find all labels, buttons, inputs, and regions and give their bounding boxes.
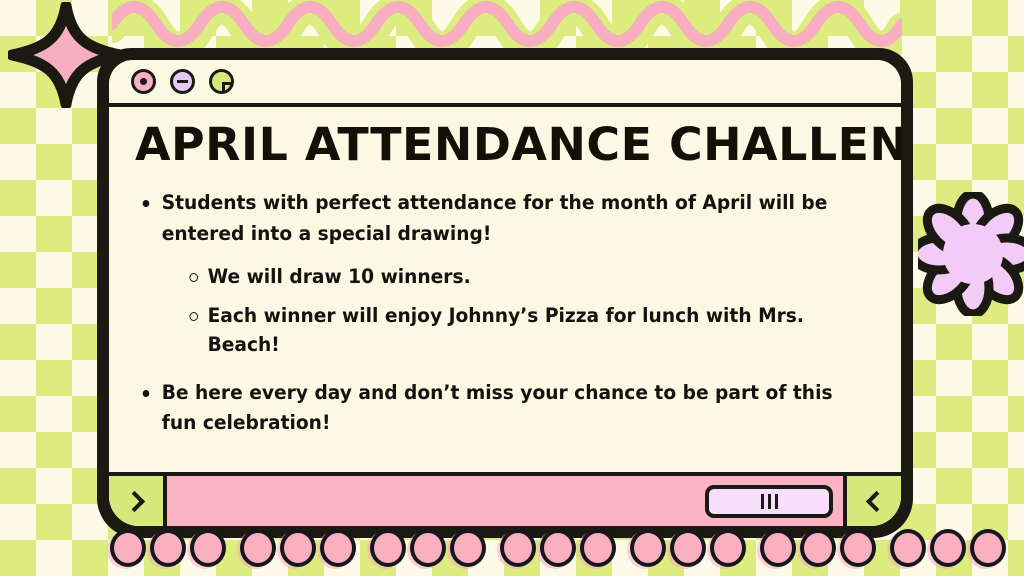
bullet-list: Students with perfect attendance for the…: [135, 188, 875, 439]
list-item: We will draw 10 winners.: [183, 262, 842, 291]
decorative-circle: [500, 529, 536, 567]
circle-group: [630, 529, 746, 567]
decorative-circle: [240, 529, 276, 567]
scrollbar-thumb[interactable]: [705, 485, 833, 518]
circle-group: [240, 529, 356, 567]
window-inner: APRIL ATTENDANCE CHALLENGE Students with…: [109, 60, 901, 526]
record-button[interactable]: [131, 69, 156, 94]
scroll-left-button[interactable]: [109, 476, 163, 526]
scrollbar-track[interactable]: [163, 476, 847, 526]
slide-canvas: APRIL ATTENDANCE CHALLENGE Students with…: [0, 0, 1024, 576]
decorative-circle: [840, 529, 876, 567]
slide-content: APRIL ATTENDANCE CHALLENGE Students with…: [109, 107, 901, 472]
grip-line-icon: [768, 494, 771, 509]
decorative-circle: [280, 529, 316, 567]
decorative-circle: [320, 529, 356, 567]
grip-line-icon: [761, 494, 764, 509]
minimize-button[interactable]: [170, 69, 195, 94]
decorative-circle: [370, 529, 406, 567]
decorative-circle: [580, 529, 616, 567]
list-item: Each winner will enjoy Johnny’s Pizza fo…: [183, 301, 842, 360]
minus-icon: [177, 80, 188, 83]
page-title: APRIL ATTENDANCE CHALLENGE: [135, 121, 890, 168]
eight-petal-flower-icon: [918, 192, 1024, 316]
decorative-circle: [110, 529, 146, 567]
decorative-circle: [540, 529, 576, 567]
decorative-circle: [190, 529, 226, 567]
decorative-circle: [410, 529, 446, 567]
list-item: Be here every day and don’t miss your ch…: [135, 378, 842, 440]
decorative-circle: [630, 529, 666, 567]
decorative-circle: [890, 529, 926, 567]
decorative-circle: [930, 529, 966, 567]
decorative-circle: [970, 529, 1006, 567]
bullet-text: Students with perfect attendance for the…: [162, 191, 828, 245]
sub-bullet-text: Each winner will enjoy Johnny’s Pizza fo…: [208, 304, 804, 356]
chevron-right-icon: [123, 490, 144, 511]
list-item: Students with perfect attendance for the…: [135, 188, 842, 359]
circle-group: [500, 529, 616, 567]
sub-bullet-text: We will draw 10 winners.: [208, 265, 471, 288]
browser-window: APRIL ATTENDANCE CHALLENGE Students with…: [97, 48, 913, 538]
window-titlebar: [109, 60, 901, 107]
scroll-right-button[interactable]: [847, 476, 901, 526]
decorative-circle: [760, 529, 796, 567]
horizontal-scrollbar: [109, 472, 901, 526]
decorative-circle: [450, 529, 486, 567]
chevron-left-icon: [865, 490, 886, 511]
circle-group: [890, 529, 1006, 567]
circle-group: [110, 529, 226, 567]
decorative-circle: [710, 529, 746, 567]
dot-icon: [140, 78, 147, 85]
sub-bullet-list: We will draw 10 winners. Each winner wil…: [183, 262, 842, 360]
maximize-button[interactable]: [209, 69, 234, 94]
circle-group: [370, 529, 486, 567]
decorative-circle: [800, 529, 836, 567]
bullet-text: Be here every day and don’t miss your ch…: [162, 381, 833, 435]
circle-group: [760, 529, 876, 567]
decorative-circle-row: [110, 526, 900, 570]
grip-line-icon: [775, 494, 778, 509]
decorative-circle: [150, 529, 186, 567]
decorative-circle: [670, 529, 706, 567]
